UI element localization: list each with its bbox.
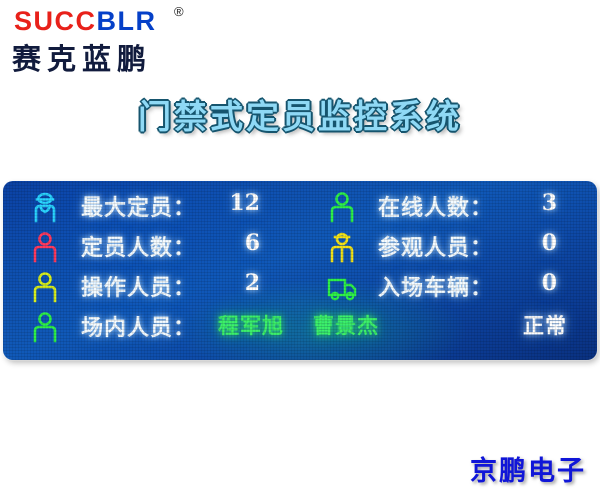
led-value: 2 [245, 270, 260, 296]
led-label: 最大定员： [81, 190, 196, 222]
footer-company-mark: 京鹏电子 [470, 449, 586, 488]
led-cell-operator-count: 操作人员： 2 [3, 267, 300, 307]
led-value: 3 [542, 190, 557, 216]
onsite-person-name: 程军旭 [218, 310, 284, 340]
person-icon [29, 311, 61, 343]
brand-wordmark-succ: SUCC [14, 6, 97, 36]
led-value: 0 [542, 270, 557, 296]
brand-wordmark: SUCCBLR [14, 6, 157, 36]
led-value: 12 [229, 190, 260, 216]
led-cell-vehicle-count: 入场车辆： 0 [300, 267, 597, 307]
led-display-panel: 最大定员： 12 在线人数： 3 [3, 181, 597, 360]
led-row: 定员人数： 6 参观人员： 0 [3, 227, 597, 267]
operator-icon [29, 271, 61, 303]
led-row: 操作人员： 2 入场车辆： 0 [3, 267, 597, 307]
led-row-onsite-personnel: 场内人员： 程军旭 曹景杰 正常 [3, 307, 597, 349]
led-label: 参观人员： [378, 230, 493, 262]
led-cell-visitor-count: 参观人员： 0 [300, 227, 597, 267]
led-label: 在线人数： [378, 190, 493, 222]
led-label: 操作人员： [81, 270, 196, 302]
person-with-cap-icon [29, 191, 61, 223]
brand-chinese-name: 赛克蓝鹏 [12, 36, 152, 78]
registered-trademark-icon: ® [174, 4, 184, 19]
brand-wordmark-blr: BLR [97, 6, 157, 36]
visitor-with-cap-icon [326, 231, 358, 263]
led-cell-registered-count: 定员人数： 6 [3, 227, 300, 267]
led-label: 入场车辆： [378, 270, 493, 302]
status-badge: 正常 [523, 310, 567, 340]
led-cell-online-count: 在线人数： 3 [300, 187, 597, 227]
company-logo: SUCCBLR ® 赛克蓝鹏 [8, 6, 238, 72]
led-cell-max-capacity: 最大定员： 12 [3, 187, 300, 227]
person-icon [29, 231, 61, 263]
led-value: 0 [542, 230, 557, 256]
led-row: 最大定员： 12 在线人数： 3 [3, 187, 597, 227]
led-rows-container: 最大定员： 12 在线人数： 3 [3, 181, 597, 360]
led-label-onsite: 场内人员： [81, 310, 196, 342]
truck-icon [326, 271, 358, 303]
led-value: 6 [245, 230, 260, 256]
onsite-person-name: 曹景杰 [313, 310, 379, 340]
led-label: 定员人数： [81, 230, 196, 262]
page-title: 门禁式定员监控系统 [0, 90, 600, 138]
person-icon [326, 191, 358, 223]
